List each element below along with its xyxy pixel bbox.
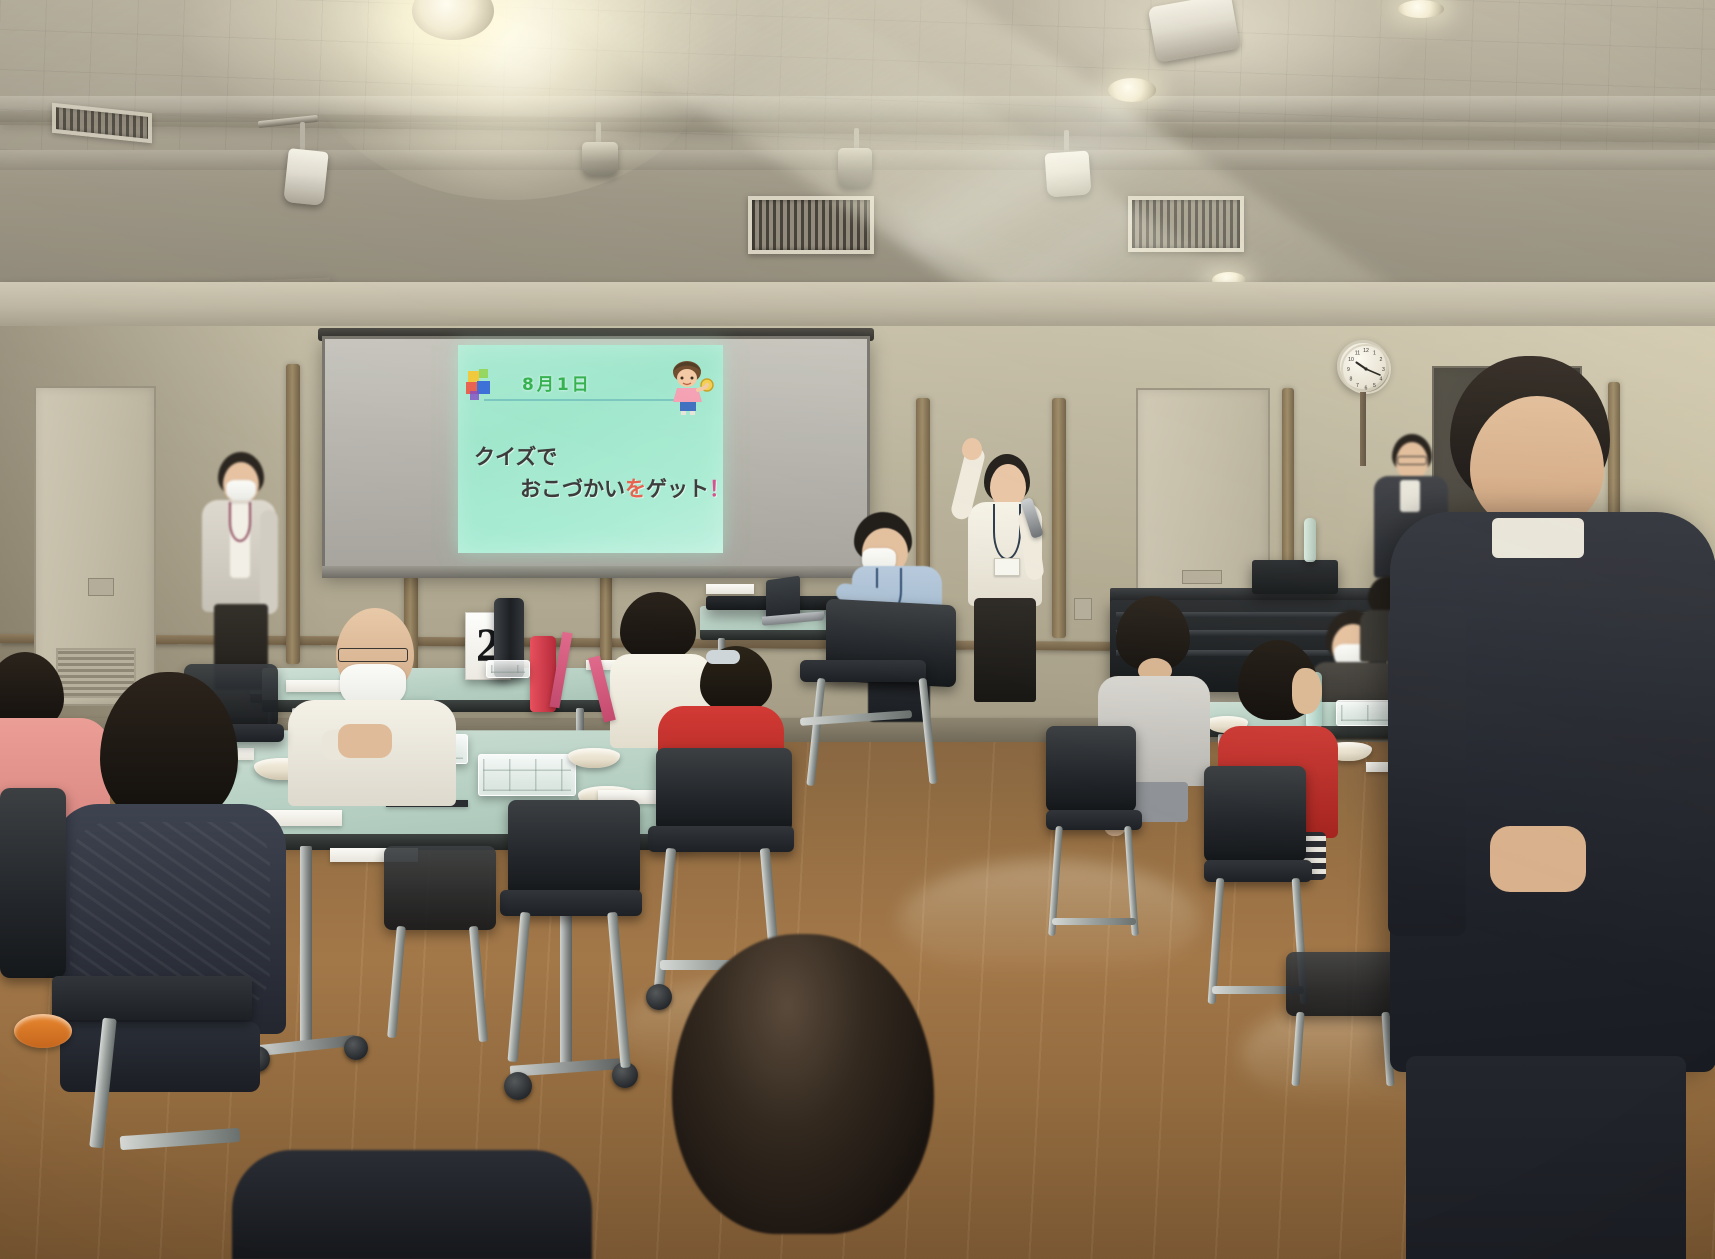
svg-text:9: 9 [1347, 367, 1350, 373]
slide-line-2: おこづかいをゲット！ [520, 473, 723, 503]
spotlight-arm-1 [300, 122, 305, 150]
shoulder-bottom-left [232, 1150, 592, 1259]
track-spotlight-2 [582, 142, 618, 176]
wall-switch-plate[interactable] [1074, 598, 1092, 620]
recessed-downlight-3 [1398, 0, 1444, 18]
shoulder-bottom-left-body [232, 1150, 592, 1259]
table-5-caster-2 [344, 1036, 368, 1060]
projected-slide: 8月1日 クイズで おこづかいをゲット！ [458, 345, 723, 553]
track-spotlight-4 [1045, 151, 1092, 198]
staff-left-mask [226, 480, 256, 502]
svg-text:7: 7 [1356, 383, 1359, 389]
slide-line-1: クイズで [474, 441, 557, 471]
staff-left-arm-right [260, 510, 278, 614]
slide-date-text: 8月1日 [522, 370, 592, 395]
tray-cells-t2 [491, 665, 525, 673]
chair-foreground-left-seat[interactable] [52, 976, 252, 1020]
presenter-with-microphone [952, 440, 1062, 708]
svg-text:8: 8 [1350, 377, 1353, 383]
recessed-downlight-1 [1108, 78, 1156, 102]
chair-foreground-left-back[interactable] [0, 788, 66, 978]
svg-text:1: 1 [1373, 351, 1376, 357]
presenter-trousers [974, 598, 1036, 702]
chair-centre-2-back[interactable] [656, 748, 792, 832]
participant-bald-man-mask [282, 608, 458, 838]
child-red-r-face [1292, 668, 1322, 714]
slide-line-2-part-d: ！ [709, 477, 723, 501]
ceiling-soffit [0, 282, 1715, 328]
presenter-lanyard [993, 504, 1021, 560]
track-spotlight-3 [838, 148, 872, 188]
slide-line-2-part-b: を [625, 477, 646, 501]
svg-text:5: 5 [1373, 383, 1376, 389]
slide-line-2-part-c: ゲット [646, 477, 709, 501]
door-sign-centre-right [1182, 570, 1222, 584]
powerpoint-color-squares-decoration [466, 369, 500, 403]
coin-sorting-tray-t2[interactable] [486, 660, 530, 678]
child-red-l-clip [706, 650, 740, 664]
adult-navy-lap [60, 1022, 260, 1092]
staff-left-lanyard [229, 502, 251, 542]
head-bottom-centre [672, 934, 934, 1259]
track-spotlight-1 [283, 148, 328, 206]
child-with-coin-clipart [661, 357, 717, 415]
spotlight-arm-3 [854, 128, 859, 150]
bald-man-glasses [338, 648, 408, 662]
table-5-leg-1 [300, 846, 312, 1046]
bald-man-hands [338, 724, 392, 758]
ceiling-air-grille-1 [748, 196, 874, 254]
clock-mount-post [1360, 392, 1366, 466]
table-5-caster-3 [504, 1072, 532, 1100]
adult-navy-hair [100, 672, 238, 822]
foreground-suit-arm-left [1388, 606, 1466, 936]
bottom-head-hair [672, 934, 934, 1234]
foreground-suit-trousers [1406, 1056, 1686, 1259]
ceiling-air-grille-2 [1128, 196, 1244, 252]
spotlight-arm-2 [596, 122, 601, 144]
svg-text:12: 12 [1363, 348, 1369, 354]
presenter-raised-hand [962, 438, 982, 460]
slide-line-2-part-a: おこづかい [520, 477, 625, 501]
staff-foreground-right-suit [1380, 356, 1715, 1156]
chair-right-2-back[interactable] [1204, 766, 1306, 862]
svg-text:6: 6 [1365, 386, 1368, 392]
svg-text:11: 11 [1355, 351, 1360, 357]
chair-left-2-back[interactable] [384, 846, 496, 930]
coin-sorting-tray-t5b[interactable] [478, 754, 576, 796]
svg-text:10: 10 [1348, 357, 1354, 363]
foreground-suit-collar [1492, 518, 1584, 558]
chair-centre-3-back[interactable] [508, 800, 640, 896]
orange-object-bottom-left [14, 1014, 72, 1048]
presenter-badge [994, 558, 1020, 576]
chair-centre-2-caster [646, 984, 672, 1010]
door-sign-left [88, 578, 114, 596]
chair-right-1-stretcher [1052, 918, 1136, 925]
foreground-suit-hands [1490, 826, 1586, 892]
av-cabinet-small [1252, 560, 1338, 594]
water-bottle-rack[interactable] [1304, 518, 1316, 562]
chair-right-1-back[interactable] [1046, 726, 1136, 812]
photo-scene: 1212 345 678 91011 8月1日 [0, 0, 1715, 1259]
staff-standing-left [196, 452, 292, 698]
tray-cells-t5b [483, 759, 571, 791]
spotlight-arm-4 [1064, 130, 1069, 154]
adult-navy-top-left [44, 672, 294, 1092]
